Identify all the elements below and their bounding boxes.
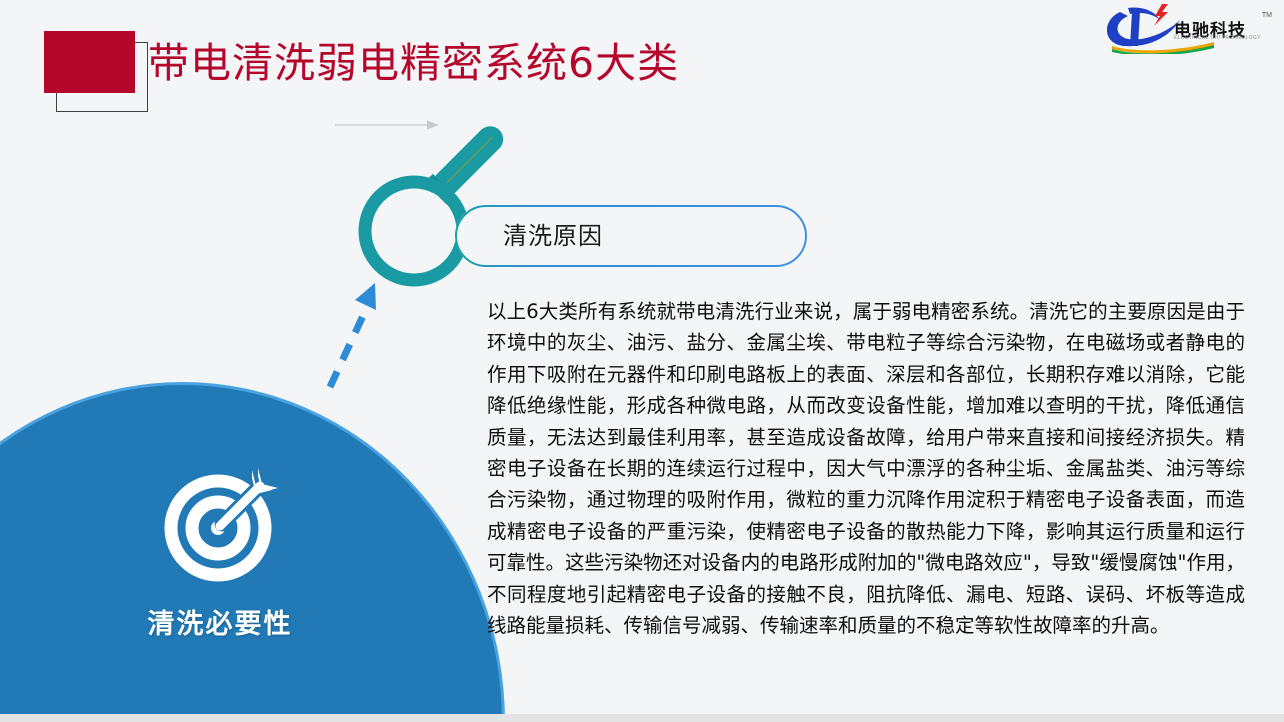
dashed-up-arrow-icon <box>318 275 388 395</box>
cleaning-reason-pill[interactable]: 清洗原因 <box>455 205 807 267</box>
bottom-strip <box>0 714 1284 722</box>
page-title: 带电清洗弱电精密系统6大类 <box>148 37 679 89</box>
necessity-panel <box>0 382 505 722</box>
title-red-square <box>44 31 135 93</box>
pill-label: 清洗原因 <box>503 222 603 250</box>
body-paragraph-block: 以上6大类所有系统就带电清洗行业来说，属于弱电精密系统。清洗它的主要原因是由于环… <box>487 296 1245 641</box>
brand-logo: 电驰科技 ELECTRICAL CHI TECHNOLOGY TM <box>1098 2 1278 54</box>
logo-trademark: TM <box>1262 12 1272 19</box>
body-paragraph: 以上6大类所有系统就带电清洗行业来说，属于弱电精密系统。清洗它的主要原因是由于环… <box>487 296 1245 641</box>
slide-canvas: 电驰科技 ELECTRICAL CHI TECHNOLOGY TM 带电清洗弱电… <box>0 0 1284 722</box>
logo-english-name: ELECTRICAL CHI TECHNOLOGY <box>1174 35 1261 41</box>
